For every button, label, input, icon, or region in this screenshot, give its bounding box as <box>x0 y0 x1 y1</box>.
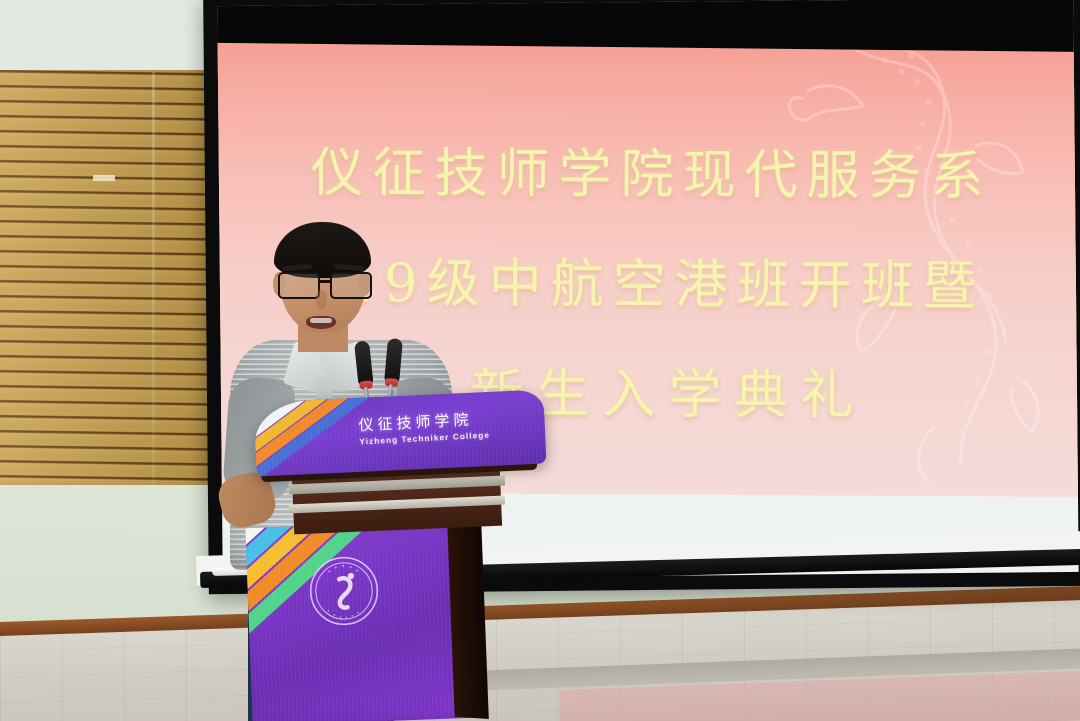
eyeglass-lens-left <box>278 272 320 299</box>
photo-scene: 仪征技师学院现代服务系 19级中航空港班开班暨 新生入学典礼 <box>0 0 1080 721</box>
lectern-stripe <box>253 389 363 476</box>
eyeglass-lens-right <box>330 272 372 299</box>
slide-line-1: 仪征技师学院现代服务系 <box>217 118 1078 233</box>
lectern-brand-chinese: 仪征技师学院 <box>358 405 539 435</box>
slat-panel-label <box>93 175 115 181</box>
school-crest-icon <box>306 553 383 630</box>
lectern-brand-block: 仪征技师学院 Yizheng Techniker College <box>358 405 539 446</box>
lectern-brand-english: Yizheng Techniker College <box>359 428 539 446</box>
lectern-desktop: 仪征技师学院 Yizheng Techniker College <box>253 389 546 476</box>
speaker-nose <box>316 290 327 310</box>
wooden-slat-acoustic-panel <box>0 70 232 485</box>
lectern-top-stripes <box>253 389 374 476</box>
lectern-stripe <box>253 389 356 466</box>
lectern: 仪征技师学院 Yizheng Techniker College <box>255 396 555 721</box>
lectern-stripe <box>253 389 370 476</box>
speaker-mouth <box>306 316 336 329</box>
lectern-side-panel <box>447 521 489 719</box>
lectern-stripe <box>253 389 341 447</box>
lectern-stripe <box>253 389 348 457</box>
slat-panel-seam <box>152 72 155 485</box>
eyeglass-bridge <box>318 280 332 283</box>
lectern-stripe <box>245 520 310 619</box>
